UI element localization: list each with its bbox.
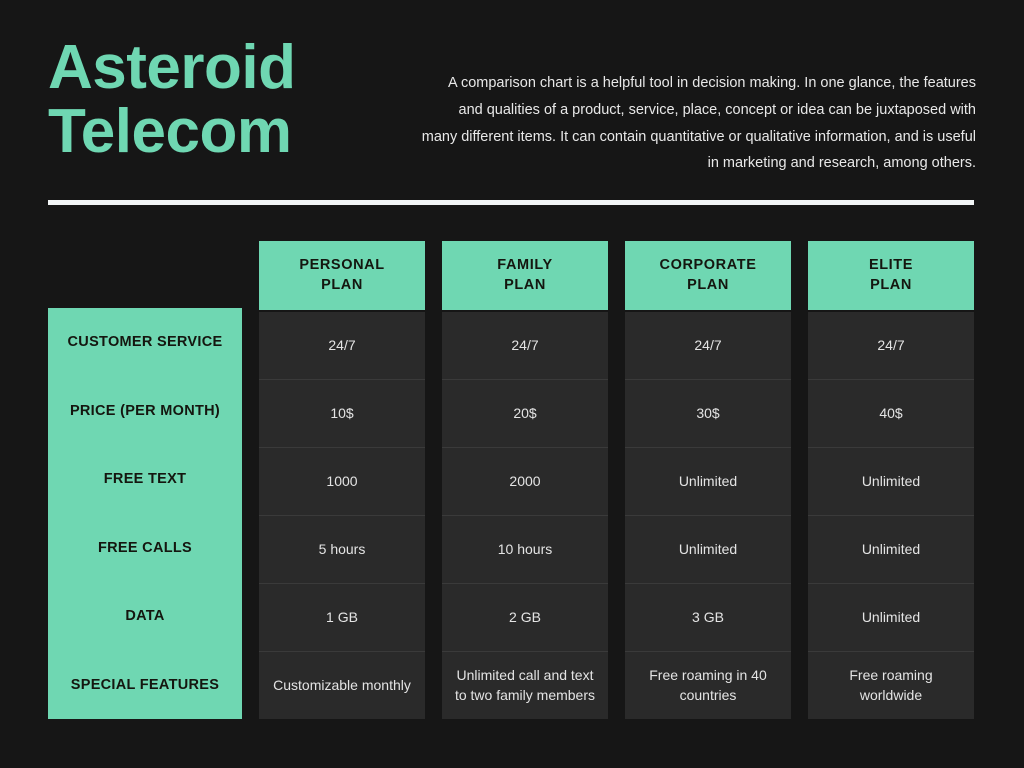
table-cell: 2000 bbox=[442, 447, 608, 515]
table-cell: 24/7 bbox=[808, 312, 974, 379]
row-label: FREE TEXT bbox=[48, 445, 242, 514]
row-label: SPECIAL FEATURES bbox=[48, 651, 242, 720]
table-cell: Unlimited bbox=[625, 515, 791, 583]
comparison-chart-page: Asteroid Telecom A comparison chart is a… bbox=[0, 0, 1024, 768]
table-cell: Free roaming worldwide bbox=[808, 651, 974, 719]
row-label: CUSTOMER SERVICE bbox=[48, 308, 242, 377]
plan-header: PERSONAL PLAN bbox=[259, 241, 425, 310]
comparison-table: CUSTOMER SERVICE PRICE (PER MONTH) FREE … bbox=[48, 241, 974, 719]
table-cell: 2 GB bbox=[442, 583, 608, 651]
table-cell: Unlimited bbox=[808, 515, 974, 583]
row-label-column: CUSTOMER SERVICE PRICE (PER MONTH) FREE … bbox=[48, 308, 242, 719]
intro-paragraph: A comparison chart is a helpful tool in … bbox=[420, 70, 976, 177]
row-label: DATA bbox=[48, 582, 242, 651]
table-cell: 20$ bbox=[442, 379, 608, 447]
table-cell: Customizable monthly bbox=[259, 651, 425, 719]
table-cell: 30$ bbox=[625, 379, 791, 447]
table-cell: 40$ bbox=[808, 379, 974, 447]
plan-column: PERSONAL PLAN 24/7 10$ 1000 5 hours 1 GB… bbox=[259, 241, 425, 719]
table-cell: 1 GB bbox=[259, 583, 425, 651]
plan-column: FAMILY PLAN 24/7 20$ 2000 10 hours 2 GB … bbox=[442, 241, 608, 719]
page-title: Asteroid Telecom bbox=[48, 36, 448, 165]
table-cell: Unlimited call and text to two family me… bbox=[442, 651, 608, 719]
plan-header: CORPORATE PLAN bbox=[625, 241, 791, 310]
table-cell: 10 hours bbox=[442, 515, 608, 583]
plan-column: CORPORATE PLAN 24/7 30$ Unlimited Unlimi… bbox=[625, 241, 791, 719]
header-divider-rule bbox=[48, 200, 974, 205]
table-cell: 5 hours bbox=[259, 515, 425, 583]
table-cell: 24/7 bbox=[625, 312, 791, 379]
row-label: PRICE (PER MONTH) bbox=[48, 377, 242, 446]
table-cell: Free roaming in 40 countries bbox=[625, 651, 791, 719]
plan-cell-list: 24/7 10$ 1000 5 hours 1 GB Customizable … bbox=[259, 312, 425, 719]
page-header: Asteroid Telecom A comparison chart is a… bbox=[0, 0, 1024, 200]
table-cell: 24/7 bbox=[442, 312, 608, 379]
plan-column: ELITE PLAN 24/7 40$ Unlimited Unlimited … bbox=[808, 241, 974, 719]
table-cell: Unlimited bbox=[625, 447, 791, 515]
table-cell: Unlimited bbox=[808, 583, 974, 651]
table-cell: Unlimited bbox=[808, 447, 974, 515]
plan-cell-list: 24/7 40$ Unlimited Unlimited Unlimited F… bbox=[808, 312, 974, 719]
table-cell: 3 GB bbox=[625, 583, 791, 651]
plan-cell-list: 24/7 30$ Unlimited Unlimited 3 GB Free r… bbox=[625, 312, 791, 719]
plan-header: FAMILY PLAN bbox=[442, 241, 608, 310]
row-label: FREE CALLS bbox=[48, 514, 242, 583]
table-cell: 10$ bbox=[259, 379, 425, 447]
table-cell: 24/7 bbox=[259, 312, 425, 379]
plan-cell-list: 24/7 20$ 2000 10 hours 2 GB Unlimited ca… bbox=[442, 312, 608, 719]
table-cell: 1000 bbox=[259, 447, 425, 515]
plan-header: ELITE PLAN bbox=[808, 241, 974, 310]
